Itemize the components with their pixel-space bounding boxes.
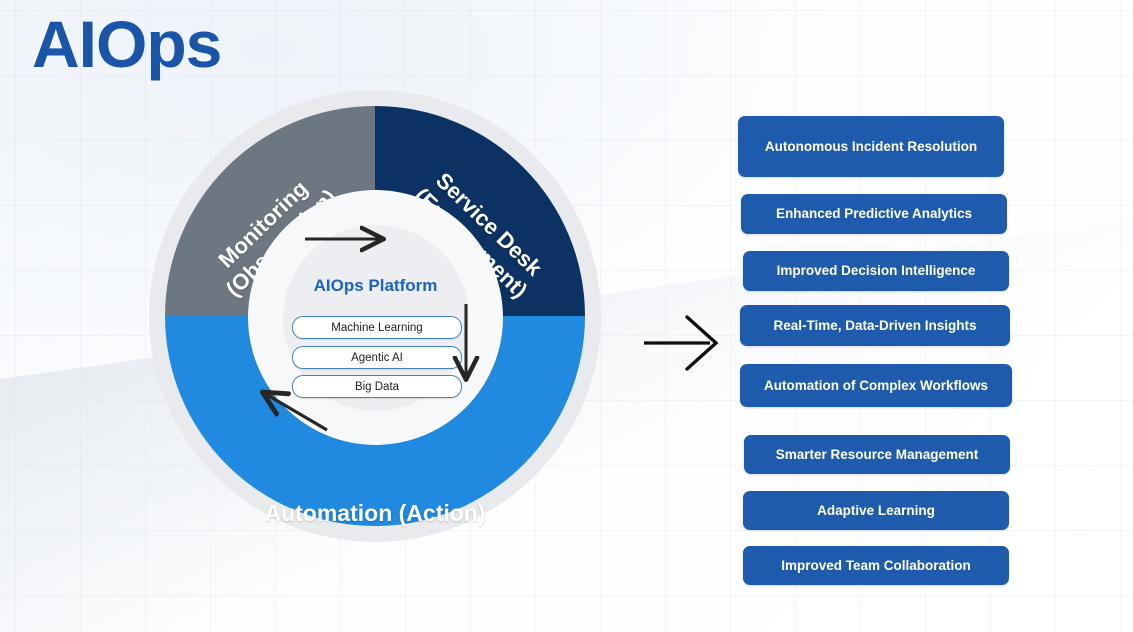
benefit-box-enhanced-predictive-analytics[interactable]: Enhanced Predictive Analytics (741, 194, 1007, 234)
benefit-box-smarter-resource-management[interactable]: Smarter Resource Management (744, 435, 1010, 474)
core-title: AIOps Platform (263, 276, 488, 296)
core-pill-machine-learning[interactable]: Machine Learning (292, 316, 462, 339)
core-pill-agentic-ai[interactable]: Agentic AI (292, 346, 462, 369)
segment-label-automation: Automation (Action) (215, 500, 535, 527)
aiops-cycle-diagram: Monitoring (Observation) Service Desk (E… (140, 80, 610, 570)
core-pill-big-data[interactable]: Big Data (292, 375, 462, 398)
benefit-box-adaptive-learning[interactable]: Adaptive Learning (743, 491, 1009, 530)
slide-canvas: AIOps Monitoring (Observation) Service D… (0, 0, 1133, 632)
benefit-box-real-time-data-driven-insights[interactable]: Real-Time, Data-Driven Insights (740, 305, 1010, 346)
benefit-box-improved-team-collaboration[interactable]: Improved Team Collaboration (743, 546, 1009, 585)
benefit-box-improved-decision-intelligence[interactable]: Improved Decision Intelligence (743, 251, 1009, 291)
arrow-right-large-icon (640, 310, 728, 376)
page-title: AIOps (32, 8, 221, 81)
benefit-box-autonomous-incident-resolution[interactable]: Autonomous Incident Resolution (738, 116, 1004, 177)
benefit-box-automation-of-complex-workflows[interactable]: Automation of Complex Workflows (740, 364, 1012, 407)
